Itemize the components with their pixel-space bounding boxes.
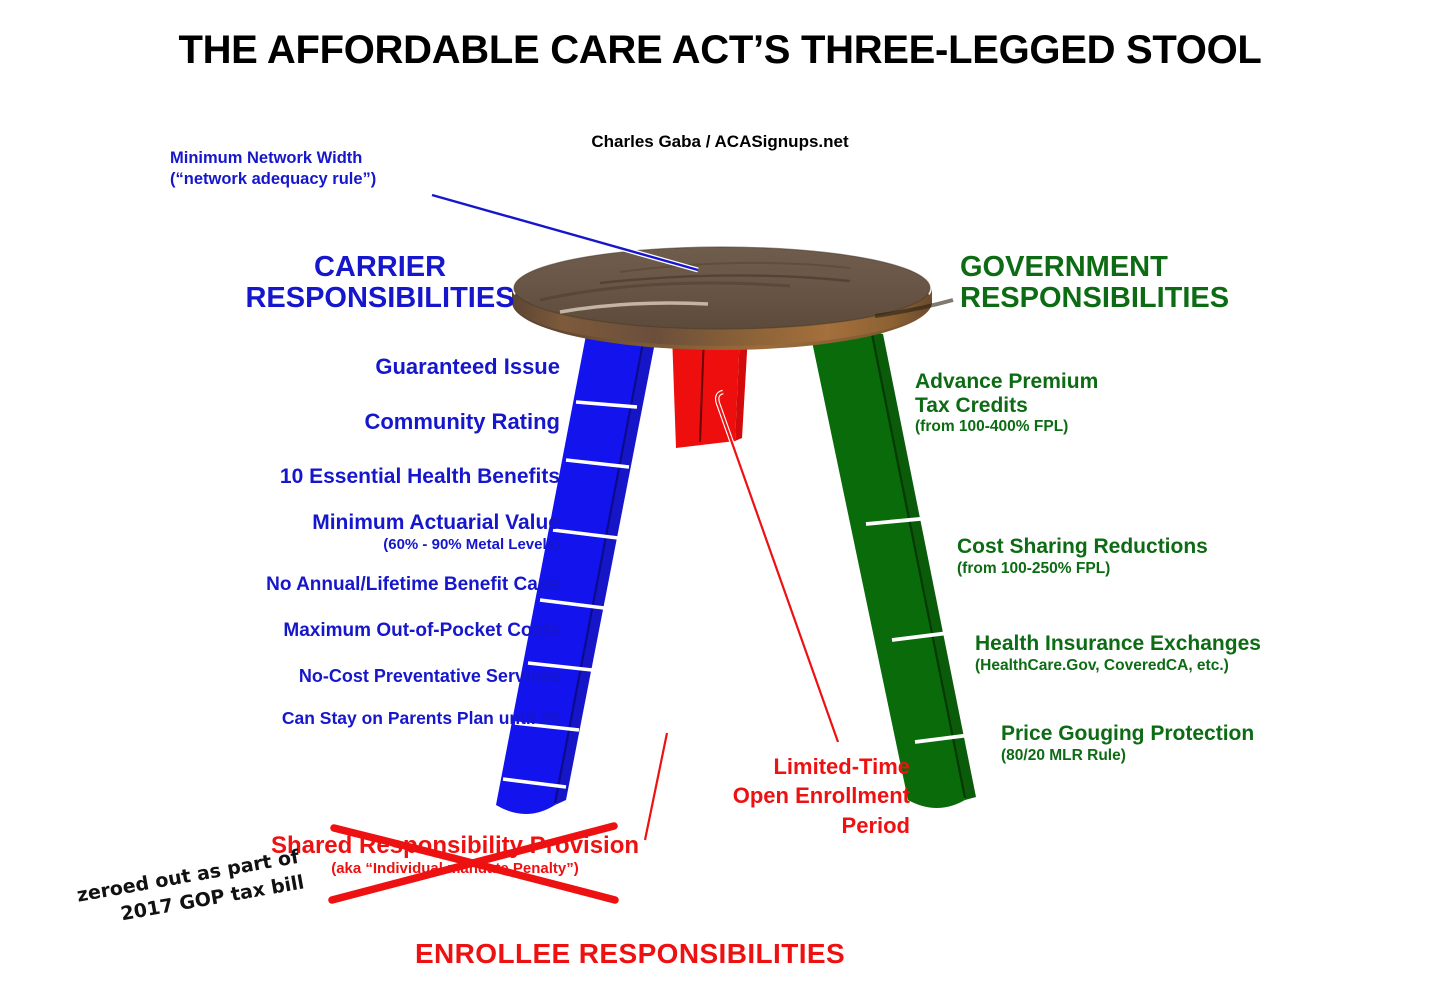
callout-line-1: Minimum Network Width	[170, 148, 470, 169]
list-item-government-0: Advance Premium Tax Credits (from 100-40…	[915, 370, 1098, 435]
government-heading-line-1: GOVERNMENT	[960, 252, 1310, 283]
open-enrollment-line-3: Period	[700, 811, 910, 840]
carrier-item-label: Minimum Actuarial Value	[312, 511, 560, 534]
government-item-label-2: Tax Credits	[915, 394, 1028, 417]
carrier-item-label: No Annual/Lifetime Benefit Caps	[266, 574, 560, 595]
government-item-sublabel: (from 100-250% FPL)	[957, 560, 1208, 577]
enrollee-leg	[672, 334, 748, 448]
page-title: THE AFFORDABLE CARE ACT’S THREE-LEGGED S…	[0, 28, 1440, 73]
government-heading-line-2: RESPONSIBILITIES	[960, 283, 1310, 314]
carrier-responsibilities-list: Guaranteed Issue Community Rating 10 Ess…	[60, 355, 560, 744]
open-enrollment-leader-line	[717, 392, 838, 742]
list-item-carrier-4: No Annual/Lifetime Benefit Caps	[60, 575, 560, 596]
carrier-item-label: Maximum Out-of-Pocket Costs	[283, 620, 560, 641]
carrier-item-label: Community Rating	[364, 409, 560, 434]
carrier-item-sublabel: (60% - 90% Metal Levels)	[60, 537, 560, 554]
carrier-heading-line-1: CARRIER	[225, 252, 535, 283]
open-enrollment-label: Limited-Time Open Enrollment Period	[700, 752, 910, 840]
carrier-item-label: Guaranteed Issue	[375, 354, 560, 379]
carrier-item-label: 10 Essential Health Benefits	[280, 465, 560, 488]
list-item-carrier-3: Minimum Actuarial Value (60% - 90% Metal…	[60, 511, 560, 553]
enrollee-responsibilities-heading: ENROLLEE RESPONSIBILITIES	[300, 938, 960, 970]
callout-line-2: (“network adequacy rule”)	[170, 169, 470, 190]
list-item-government-1: Cost Sharing Reductions (from 100-250% F…	[957, 535, 1208, 577]
government-item-sublabel: (from 100-400% FPL)	[915, 418, 1098, 435]
carrier-item-label: No-Cost Preventative Services	[299, 666, 560, 686]
list-item-carrier-2: 10 Essential Health Benefits	[60, 465, 560, 488]
carrier-responsibilities-heading: CARRIER RESPONSIBILITIES	[225, 252, 535, 315]
open-enrollment-line-1: Limited-Time	[700, 752, 910, 781]
list-item-carrier-0: Guaranteed Issue	[60, 355, 560, 379]
list-item-carrier-5: Maximum Out-of-Pocket Costs	[60, 621, 560, 642]
list-item-government-3: Price Gouging Protection (80/20 MLR Rule…	[1001, 722, 1254, 764]
open-enrollment-line-2: Open Enrollment	[700, 781, 910, 810]
stool-seat	[512, 247, 953, 350]
list-item-carrier-1: Community Rating	[60, 410, 560, 434]
government-item-label: Price Gouging Protection	[1001, 722, 1254, 745]
government-item-label: Health Insurance Exchanges	[975, 632, 1261, 655]
shared-responsibility-leader-line	[645, 733, 667, 840]
government-item-label: Advance Premium	[915, 370, 1098, 393]
list-item-government-2: Health Insurance Exchanges (HealthCare.G…	[975, 632, 1261, 674]
government-item-label: Cost Sharing Reductions	[957, 535, 1208, 558]
carrier-heading-line-2: RESPONSIBILITIES	[225, 283, 535, 314]
list-item-carrier-6: No-Cost Preventative Services	[60, 667, 560, 687]
government-responsibilities-heading: GOVERNMENT RESPONSIBILITIES	[960, 252, 1310, 315]
list-item-carrier-7: Can Stay on Parents Plan until 26	[60, 709, 560, 728]
carrier-item-label: Can Stay on Parents Plan until 26	[282, 708, 560, 728]
government-item-sublabel: (80/20 MLR Rule)	[1001, 747, 1254, 764]
government-item-sublabel: (HealthCare.Gov, CoveredCA, etc.)	[975, 657, 1261, 674]
callout-minimum-network-width: Minimum Network Width (“network adequacy…	[170, 148, 470, 190]
infographic-canvas: THE AFFORDABLE CARE ACT’S THREE-LEGGED S…	[0, 0, 1440, 1000]
